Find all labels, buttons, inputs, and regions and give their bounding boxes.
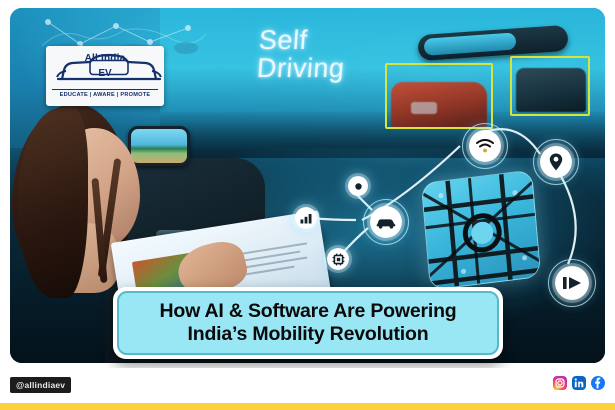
footer-bar: @allindiaev <box>0 368 615 410</box>
wifi-icon <box>476 139 494 153</box>
instagram-icon[interactable] <box>553 376 567 390</box>
car-icon <box>376 216 396 229</box>
social-icons-group <box>553 376 605 390</box>
hud-node-media[interactable] <box>555 266 589 300</box>
poster-root: Self Driving <box>0 0 615 410</box>
logo-line-2: EV <box>50 68 160 79</box>
map-roads <box>422 170 542 290</box>
facebook-icon[interactable] <box>591 376 605 390</box>
location-pin-icon <box>549 153 563 171</box>
side-mirror <box>128 126 190 166</box>
hud-node-marker[interactable] <box>348 176 368 196</box>
linkedin-icon[interactable] <box>572 376 586 390</box>
logo-mark: All India EV <box>50 49 160 89</box>
social-handle-badge: @allindiaev <box>10 377 71 393</box>
self-driving-line-2: Driving <box>256 54 345 82</box>
title-line-1: How AI & Software Are Powering <box>159 300 456 323</box>
bar-chart-icon <box>300 213 313 224</box>
hud-node-vehicle[interactable] <box>370 206 402 238</box>
self-driving-overlay-text: Self Driving <box>256 26 347 82</box>
self-driving-line-1: Self <box>258 26 347 54</box>
logo-tagline: EDUCATE | AWARE | PROMOTE <box>52 89 158 98</box>
navigation-map-panel <box>421 169 542 290</box>
dot-marker-icon <box>354 182 363 191</box>
logo-line-1: All India <box>50 53 160 64</box>
brand-logo-card: All India EV EDUCATE | AWARE | PROMOTE <box>46 46 164 106</box>
title-text: How AI & Software Are Powering India’s M… <box>159 300 456 347</box>
title-banner-inner: How AI & Software Are Powering India’s M… <box>117 291 499 355</box>
hud-node-chip[interactable] <box>327 248 349 270</box>
title-line-2: India’s Mobility Revolution <box>159 323 456 346</box>
accent-bottom-bar <box>0 403 615 410</box>
detection-box-red-suv <box>385 63 493 129</box>
chip-icon <box>332 253 345 266</box>
hud-node-location[interactable] <box>540 146 572 178</box>
hud-node-analytics[interactable] <box>295 207 317 229</box>
hud-node-wifi[interactable] <box>469 130 501 162</box>
detection-box-dark-van <box>510 56 590 116</box>
title-banner: How AI & Software Are Powering India’s M… <box>113 287 503 359</box>
media-play-icon <box>562 275 582 291</box>
